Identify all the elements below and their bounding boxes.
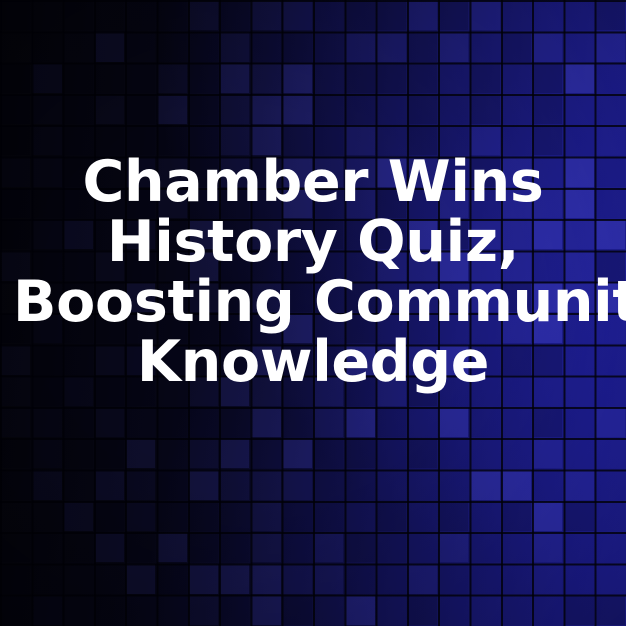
mosaic-tile xyxy=(95,564,124,593)
mosaic-tile xyxy=(470,596,499,625)
mosaic-tile xyxy=(283,533,312,562)
mosaic-tile xyxy=(1,470,30,499)
mosaic-tile xyxy=(189,533,218,562)
mosaic-tile xyxy=(502,596,531,625)
mosaic-tile xyxy=(126,64,155,93)
mosaic-tile xyxy=(345,502,374,531)
mosaic-tile xyxy=(564,470,593,499)
mosaic-tile xyxy=(564,533,593,562)
mosaic-tile xyxy=(470,408,499,437)
mosaic-tile xyxy=(377,470,406,499)
mosaic-tile xyxy=(439,1,468,30)
mosaic-tile xyxy=(126,470,155,499)
mosaic-tile xyxy=(502,502,531,531)
mosaic-tile xyxy=(157,533,186,562)
mosaic-tile xyxy=(32,64,61,93)
mosaic-tile xyxy=(64,64,93,93)
mosaic-tile xyxy=(126,32,155,61)
mosaic-tile xyxy=(251,470,280,499)
mosaic-tile xyxy=(408,32,437,61)
mosaic-tile xyxy=(283,470,312,499)
mosaic-tile xyxy=(377,533,406,562)
mosaic-tile xyxy=(220,439,249,468)
mosaic-tile xyxy=(502,564,531,593)
mosaic-tile xyxy=(189,64,218,93)
mosaic-tile xyxy=(408,408,437,437)
mosaic-tile xyxy=(251,564,280,593)
mosaic-tile xyxy=(157,439,186,468)
mosaic-tile xyxy=(314,408,343,437)
mosaic-tile xyxy=(314,564,343,593)
mosaic-tile xyxy=(157,408,186,437)
mosaic-tile xyxy=(408,596,437,625)
mosaic-tile xyxy=(470,470,499,499)
mosaic-tile xyxy=(32,32,61,61)
mosaic-tile xyxy=(64,408,93,437)
mosaic-tile xyxy=(95,32,124,61)
mosaic-tile xyxy=(157,95,186,124)
mosaic-tile xyxy=(408,533,437,562)
mosaic-tile xyxy=(596,408,625,437)
mosaic-tile xyxy=(64,596,93,625)
mosaic-tile xyxy=(314,1,343,30)
page-title: Chamber Wins History Quiz, Boosting Comm… xyxy=(13,152,613,392)
mosaic-tile xyxy=(283,95,312,124)
mosaic-tile xyxy=(1,533,30,562)
mosaic-tile xyxy=(157,1,186,30)
mosaic-tile xyxy=(126,533,155,562)
mosaic-tile xyxy=(502,470,531,499)
mosaic-tile xyxy=(95,64,124,93)
mosaic-tile xyxy=(95,1,124,30)
mosaic-tile xyxy=(439,533,468,562)
mosaic-tile xyxy=(1,95,30,124)
mosaic-tile xyxy=(345,596,374,625)
mosaic-tile xyxy=(32,596,61,625)
mosaic-tile xyxy=(189,564,218,593)
mosaic-tile xyxy=(251,502,280,531)
mosaic-tile xyxy=(95,533,124,562)
mosaic-tile xyxy=(220,95,249,124)
mosaic-tile xyxy=(189,470,218,499)
mosaic-tile xyxy=(126,596,155,625)
mosaic-tile xyxy=(596,95,625,124)
mosaic-tile xyxy=(533,95,562,124)
mosaic-tile xyxy=(502,64,531,93)
mosaic-tile xyxy=(533,596,562,625)
title-card: Chamber Wins History Quiz, Boosting Comm… xyxy=(0,0,626,626)
mosaic-tile xyxy=(596,32,625,61)
mosaic-tile xyxy=(189,502,218,531)
mosaic-tile xyxy=(64,470,93,499)
mosaic-tile xyxy=(408,470,437,499)
mosaic-tile xyxy=(126,408,155,437)
mosaic-tile xyxy=(345,564,374,593)
mosaic-tile xyxy=(157,502,186,531)
mosaic-tile xyxy=(502,32,531,61)
mosaic-tile xyxy=(251,596,280,625)
mosaic-tile xyxy=(189,596,218,625)
headline-line-4: Knowledge xyxy=(13,332,613,392)
mosaic-tile xyxy=(564,1,593,30)
headline-line-2: History Quiz, xyxy=(13,212,613,272)
headline-line-1: Chamber Wins xyxy=(13,152,613,212)
mosaic-tile xyxy=(470,1,499,30)
mosaic-tile xyxy=(314,502,343,531)
mosaic-tile xyxy=(314,470,343,499)
mosaic-tile xyxy=(220,1,249,30)
mosaic-tile xyxy=(596,564,625,593)
mosaic-tile xyxy=(95,439,124,468)
mosaic-tile xyxy=(220,596,249,625)
mosaic-tile xyxy=(439,95,468,124)
mosaic-tile xyxy=(189,1,218,30)
mosaic-tile xyxy=(345,95,374,124)
mosaic-tile xyxy=(283,1,312,30)
mosaic-tile xyxy=(157,470,186,499)
headline-line-3: Boosting Community xyxy=(13,272,613,332)
mosaic-tile xyxy=(533,502,562,531)
mosaic-tile xyxy=(189,439,218,468)
mosaic-tile xyxy=(439,408,468,437)
mosaic-tile xyxy=(1,32,30,61)
mosaic-tile xyxy=(157,596,186,625)
mosaic-tile xyxy=(533,64,562,93)
mosaic-tile xyxy=(64,439,93,468)
mosaic-tile xyxy=(564,564,593,593)
mosaic-tile xyxy=(470,502,499,531)
mosaic-tile xyxy=(596,502,625,531)
mosaic-tile xyxy=(377,64,406,93)
mosaic-tile xyxy=(502,95,531,124)
mosaic-tile xyxy=(220,533,249,562)
mosaic-tile xyxy=(314,95,343,124)
mosaic-tile xyxy=(283,408,312,437)
mosaic-tile xyxy=(64,1,93,30)
mosaic-tile xyxy=(408,64,437,93)
mosaic-tile xyxy=(64,502,93,531)
mosaic-tile xyxy=(220,32,249,61)
mosaic-tile xyxy=(251,32,280,61)
mosaic-tile xyxy=(439,596,468,625)
mosaic-tile xyxy=(95,408,124,437)
mosaic-tile xyxy=(470,439,499,468)
mosaic-tile xyxy=(283,502,312,531)
mosaic-tile xyxy=(564,502,593,531)
mosaic-tile xyxy=(564,64,593,93)
mosaic-tile xyxy=(377,408,406,437)
mosaic-tile xyxy=(32,408,61,437)
mosaic-tile xyxy=(283,64,312,93)
mosaic-tile xyxy=(502,439,531,468)
mosaic-tile xyxy=(345,408,374,437)
mosaic-tile xyxy=(377,502,406,531)
mosaic-tile xyxy=(32,1,61,30)
mosaic-tile xyxy=(345,533,374,562)
mosaic-tile xyxy=(470,533,499,562)
mosaic-tile xyxy=(1,408,30,437)
mosaic-tile xyxy=(533,533,562,562)
mosaic-tile xyxy=(345,1,374,30)
mosaic-tile xyxy=(596,596,625,625)
mosaic-tile xyxy=(314,596,343,625)
mosaic-tile xyxy=(126,564,155,593)
mosaic-tile xyxy=(64,95,93,124)
mosaic-tile xyxy=(596,533,625,562)
mosaic-tile xyxy=(1,439,30,468)
mosaic-tile xyxy=(220,64,249,93)
mosaic-tile xyxy=(95,470,124,499)
mosaic-tile xyxy=(220,470,249,499)
mosaic-tile xyxy=(596,439,625,468)
mosaic-tile xyxy=(157,64,186,93)
mosaic-tile xyxy=(314,32,343,61)
mosaic-tile xyxy=(439,64,468,93)
mosaic-tile xyxy=(314,533,343,562)
mosaic-tile xyxy=(283,439,312,468)
mosaic-tile xyxy=(377,564,406,593)
mosaic-tile xyxy=(32,439,61,468)
mosaic-tile xyxy=(470,32,499,61)
mosaic-tile xyxy=(126,1,155,30)
mosaic-tile xyxy=(64,564,93,593)
mosaic-tile xyxy=(64,32,93,61)
mosaic-tile xyxy=(502,533,531,562)
mosaic-tile xyxy=(408,564,437,593)
mosaic-tile xyxy=(564,439,593,468)
mosaic-tile xyxy=(596,470,625,499)
mosaic-tile xyxy=(502,1,531,30)
mosaic-tile xyxy=(533,408,562,437)
mosaic-tile xyxy=(314,439,343,468)
mosaic-tile xyxy=(439,32,468,61)
mosaic-tile xyxy=(283,596,312,625)
mosaic-tile xyxy=(377,596,406,625)
mosaic-tile xyxy=(220,502,249,531)
mosaic-tile xyxy=(157,564,186,593)
mosaic-tile xyxy=(64,533,93,562)
mosaic-tile xyxy=(1,1,30,30)
mosaic-tile xyxy=(533,32,562,61)
mosaic-tile xyxy=(126,95,155,124)
mosaic-tile xyxy=(533,439,562,468)
mosaic-tile xyxy=(533,1,562,30)
mosaic-tile xyxy=(251,533,280,562)
mosaic-tile xyxy=(32,95,61,124)
mosaic-tile xyxy=(345,64,374,93)
mosaic-tile xyxy=(564,408,593,437)
mosaic-tile xyxy=(377,95,406,124)
mosaic-tile xyxy=(126,439,155,468)
mosaic-tile xyxy=(596,64,625,93)
mosaic-tile xyxy=(377,32,406,61)
mosaic-tile xyxy=(502,408,531,437)
mosaic-tile xyxy=(251,1,280,30)
mosaic-tile xyxy=(564,32,593,61)
mosaic-tile xyxy=(596,1,625,30)
mosaic-tile xyxy=(408,502,437,531)
mosaic-tile xyxy=(345,470,374,499)
mosaic-tile xyxy=(32,564,61,593)
mosaic-tile xyxy=(157,32,186,61)
mosaic-tile xyxy=(251,439,280,468)
mosaic-tile xyxy=(345,439,374,468)
mosaic-tile xyxy=(408,439,437,468)
mosaic-tile xyxy=(470,64,499,93)
mosaic-tile xyxy=(439,564,468,593)
mosaic-tile xyxy=(408,1,437,30)
mosaic-tile xyxy=(533,564,562,593)
mosaic-tile xyxy=(1,596,30,625)
mosaic-tile xyxy=(251,408,280,437)
mosaic-tile xyxy=(95,502,124,531)
mosaic-tile xyxy=(377,439,406,468)
mosaic-tile xyxy=(533,470,562,499)
mosaic-tile xyxy=(189,408,218,437)
mosaic-tile xyxy=(564,596,593,625)
mosaic-tile xyxy=(126,502,155,531)
mosaic-tile xyxy=(283,32,312,61)
mosaic-tile xyxy=(439,502,468,531)
mosaic-tile xyxy=(251,95,280,124)
mosaic-tile xyxy=(95,95,124,124)
mosaic-tile xyxy=(283,564,312,593)
mosaic-tile xyxy=(470,564,499,593)
mosaic-tile xyxy=(251,64,280,93)
mosaic-tile xyxy=(1,564,30,593)
mosaic-tile xyxy=(439,470,468,499)
mosaic-tile xyxy=(1,64,30,93)
mosaic-tile xyxy=(564,95,593,124)
mosaic-tile xyxy=(345,32,374,61)
mosaic-tile xyxy=(32,533,61,562)
mosaic-tile xyxy=(32,502,61,531)
mosaic-tile xyxy=(32,470,61,499)
mosaic-tile xyxy=(470,95,499,124)
mosaic-tile xyxy=(189,95,218,124)
mosaic-tile xyxy=(189,32,218,61)
mosaic-tile xyxy=(377,1,406,30)
mosaic-tile xyxy=(1,502,30,531)
mosaic-tile xyxy=(439,439,468,468)
mosaic-tile xyxy=(408,95,437,124)
mosaic-tile xyxy=(220,564,249,593)
mosaic-tile xyxy=(220,408,249,437)
mosaic-tile xyxy=(314,64,343,93)
mosaic-tile xyxy=(95,596,124,625)
